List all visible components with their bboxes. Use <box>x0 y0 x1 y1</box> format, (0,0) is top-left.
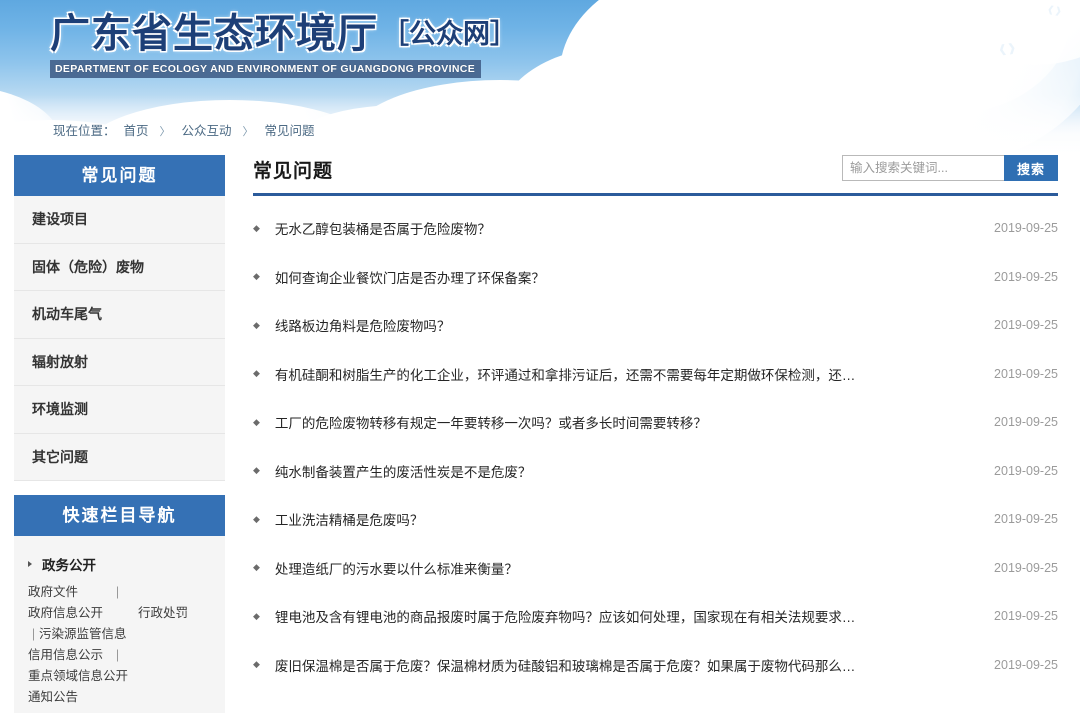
diamond-bullet-icon: ◆ <box>253 418 260 427</box>
breadcrumb-item-public-interaction[interactable]: 公众互动 <box>182 124 232 138</box>
quick-nav-panel-title: 快速栏目导航 <box>14 495 225 536</box>
breadcrumb-item-faq[interactable]: 常见问题 <box>265 124 315 138</box>
sidebar-panel-title: 常见问题 <box>14 155 225 196</box>
faq-list-item[interactable]: ◆ 有机硅酮和树脂生产的化工企业，环评通过和拿排污证后，还需不需要每年定期做环保… <box>253 350 1058 399</box>
faq-item-date: 2019-09-25 <box>974 609 1058 623</box>
faq-item-main: ◆ 锂电池及含有锂电池的商品报废时属于危险废弃物吗？应该如何处理，国家现在有相关… <box>253 606 855 626</box>
title-divider <box>253 193 1058 196</box>
faq-item-main: ◆ 如何查询企业餐饮门店是否办理了环保备案？ <box>253 267 545 287</box>
faq-item-date: 2019-09-25 <box>974 464 1058 478</box>
cloud-decoration <box>0 85 60 155</box>
cloud-decoration <box>560 0 890 155</box>
faq-item-title[interactable]: 如何查询企业餐饮门店是否办理了环保备案？ <box>275 267 545 287</box>
faq-list: ◆ 无水乙醇包装桶是否属于危险废物？ 2019-09-25 ◆ 如何查询企业餐饮… <box>253 200 1058 689</box>
quick-link-notices-announcements[interactable]: 通知公告 <box>28 687 225 708</box>
faq-item-title[interactable]: 处理造纸厂的污水要以什么标准来衡量？ <box>275 558 518 578</box>
breadcrumb-label: 现在位置： <box>53 124 116 138</box>
search-input[interactable] <box>842 155 1004 181</box>
site-banner: ❰❱ ❰❱ 广东省生态环境厅［公众网］ DEPARTMENT OF ECOLOG… <box>0 0 1080 155</box>
sidebar-item-solid-hazardous-waste[interactable]: 固体（危险）废物 <box>14 244 225 292</box>
breadcrumb-separator-icon: 〉 <box>243 126 254 138</box>
quick-link-administrative-penalty[interactable]: 行政处罚 <box>138 603 222 624</box>
faq-list-item[interactable]: ◆ 锂电池及含有锂电池的商品报废时属于危险废弃物吗？应该如何处理，国家现在有相关… <box>253 592 1058 641</box>
quick-link-pollution-source-supervision[interactable]: 污染源监管信息 <box>39 624 149 645</box>
breadcrumb-item-home[interactable]: 首页 <box>124 124 149 138</box>
quick-nav-links-disclosure: 政府文件 | 政府信息公开 行政处罚 | 污染源监管信息 信用信息公示 | 重点… <box>14 582 225 708</box>
quick-link-key-areas-information-disclosure[interactable]: 重点领域信息公开 <box>28 666 138 687</box>
faq-item-title[interactable]: 工业洗洁精桶是危废吗？ <box>275 509 424 529</box>
diamond-bullet-icon: ◆ <box>253 466 260 475</box>
site-logo-title: 广东省生态环境厅［公众网］ <box>50 12 517 56</box>
quick-link-credit-information-publicity[interactable]: 信用信息公示 <box>28 645 112 666</box>
faq-item-title[interactable]: 纯水制备装置产生的废活性炭是不是危废？ <box>275 461 532 481</box>
site-logo[interactable]: 广东省生态环境厅［公众网］ DEPARTMENT OF ECOLOGY AND … <box>50 12 517 78</box>
sidebar-item-radiation[interactable]: 辐射放射 <box>14 339 225 387</box>
faq-list-item[interactable]: ◆ 工厂的危险废物转移有规定一年要转移一次吗？或者多长时间需要转移？ 2019-… <box>253 398 1058 447</box>
faq-list-item[interactable]: ◆ 工业洗洁精桶是危废吗？ 2019-09-25 <box>253 495 1058 544</box>
diamond-bullet-icon: ◆ <box>253 612 260 621</box>
sidebar-item-environmental-monitoring[interactable]: 环境监测 <box>14 386 225 434</box>
faq-item-main: ◆ 纯水制备装置产生的废活性炭是不是危废？ <box>253 461 531 481</box>
quick-nav-group-government-affairs-disclosure[interactable]: 政务公开 <box>14 546 225 582</box>
diamond-bullet-icon: ◆ <box>253 321 260 330</box>
sidebar: 常见问题 建设项目 固体（危险）废物 机动车尾气 辐射放射 环境监测 其它问题 … <box>14 155 225 713</box>
link-divider: | <box>28 624 39 645</box>
quick-nav-panel: 快速栏目导航 政务公开 政府文件 | 政府信息公开 行政处罚 | 污染源监管信息… <box>14 495 225 713</box>
bird-icon: ❰❱ <box>997 43 1017 56</box>
cloud-decoration <box>690 0 1080 155</box>
faq-list-item[interactable]: ◆ 废旧保温棉是否属于危废？保温棉材质为硅酸铝和玻璃棉是否属于危废？如果属于废物… <box>253 641 1058 690</box>
faq-item-date: 2019-09-25 <box>974 367 1058 381</box>
faq-list-item[interactable]: ◆ 线路板边角料是危险废物吗？ 2019-09-25 <box>253 301 1058 350</box>
cloud-decoration <box>350 80 650 155</box>
faq-item-title[interactable]: 锂电池及含有锂电池的商品报废时属于危险废弃物吗？应该如何处理，国家现在有相关法规… <box>275 606 856 626</box>
faq-list-item[interactable]: ◆ 纯水制备装置产生的废活性炭是不是危废？ 2019-09-25 <box>253 447 1058 496</box>
sidebar-nav: 建设项目 固体（危险）废物 机动车尾气 辐射放射 环境监测 其它问题 <box>14 196 225 481</box>
link-divider: | <box>112 582 123 603</box>
faq-item-date: 2019-09-25 <box>974 658 1058 672</box>
cloud-decoration <box>760 0 960 95</box>
sidebar-item-other-questions[interactable]: 其它问题 <box>14 434 225 482</box>
breadcrumb: 现在位置：首页〉公众互动〉常见问题 <box>53 120 315 139</box>
site-logo-title-text: 广东省生态环境厅 <box>50 11 378 57</box>
faq-item-date: 2019-09-25 <box>974 561 1058 575</box>
diamond-bullet-icon: ◆ <box>253 563 260 572</box>
site-logo-subtitle-bracket: ［公众网］ <box>382 19 517 50</box>
search-button[interactable]: 搜索 <box>1004 155 1058 181</box>
faq-item-title[interactable]: 有机硅酮和树脂生产的化工企业，环评通过和拿排污证后，还需不需要每年定期做环保检测… <box>275 364 856 384</box>
faq-item-main: ◆ 有机硅酮和树脂生产的化工企业，环评通过和拿排污证后，还需不需要每年定期做环保… <box>253 364 855 384</box>
faq-item-title[interactable]: 废旧保温棉是否属于危废？保温棉材质为硅酸铝和玻璃棉是否属于危废？如果属于废物代码… <box>275 655 856 675</box>
cloud-decoration <box>500 45 750 155</box>
faq-item-date: 2019-09-25 <box>974 221 1058 235</box>
faq-item-main: ◆ 处理造纸厂的污水要以什么标准来衡量？ <box>253 558 518 578</box>
faq-item-title[interactable]: 线路板边角料是危险废物吗？ <box>275 315 451 335</box>
chevron-right-icon <box>28 561 32 567</box>
diamond-bullet-icon: ◆ <box>253 660 260 669</box>
faq-list-item[interactable]: ◆ 无水乙醇包装桶是否属于危险废物？ 2019-09-25 <box>253 204 1058 253</box>
diamond-bullet-icon: ◆ <box>253 369 260 378</box>
quick-link-government-documents[interactable]: 政府文件 <box>28 582 112 603</box>
search-bar: 搜索 <box>842 155 1058 181</box>
bird-icon: ❰❱ <box>1046 5 1062 16</box>
content-header: 常见问题 搜索 <box>253 155 1058 193</box>
faq-item-main: ◆ 线路板边角料是危险废物吗？ <box>253 315 450 335</box>
faq-item-title[interactable]: 无水乙醇包装桶是否属于危险废物？ <box>275 218 491 238</box>
faq-item-title[interactable]: 工厂的危险废物转移有规定一年要转移一次吗？或者多长时间需要转移？ <box>275 412 707 432</box>
quick-nav-group-label: 政务公开 <box>42 554 96 574</box>
faq-item-date: 2019-09-25 <box>974 270 1058 284</box>
page-body: 常见问题 建设项目 固体（危险）废物 机动车尾气 辐射放射 环境监测 其它问题 … <box>0 155 1080 713</box>
faq-item-main: ◆ 废旧保温棉是否属于危废？保温棉材质为硅酸铝和玻璃棉是否属于危废？如果属于废物… <box>253 655 855 675</box>
faq-item-main: ◆ 无水乙醇包装桶是否属于危险废物？ <box>253 218 491 238</box>
diamond-bullet-icon: ◆ <box>253 515 260 524</box>
cloud-decoration <box>280 105 520 155</box>
faq-item-main: ◆ 工业洗洁精桶是危废吗？ <box>253 509 423 529</box>
cloud-decoration <box>820 0 1070 115</box>
main-content: 常见问题 搜索 ◆ 无水乙醇包装桶是否属于危险废物？ 2019-09-25 ◆ … <box>225 155 1080 689</box>
sidebar-item-construction-projects[interactable]: 建设项目 <box>14 196 225 244</box>
faq-item-main: ◆ 工厂的危险废物转移有规定一年要转移一次吗？或者多长时间需要转移？ <box>253 412 707 432</box>
faq-item-date: 2019-09-25 <box>974 318 1058 332</box>
breadcrumb-separator-icon: 〉 <box>160 126 171 138</box>
page-title: 常见问题 <box>253 156 333 183</box>
diamond-bullet-icon: ◆ <box>253 272 260 281</box>
quick-nav-group-government-services[interactable]: 政务服务 <box>14 708 225 713</box>
diamond-bullet-icon: ◆ <box>253 224 260 233</box>
faq-item-date: 2019-09-25 <box>974 415 1058 429</box>
site-logo-english: DEPARTMENT OF ECOLOGY AND ENVIRONMENT OF… <box>50 60 481 78</box>
faq-item-date: 2019-09-25 <box>974 512 1058 526</box>
quick-link-government-information-disclosure[interactable]: 政府信息公开 <box>28 603 138 624</box>
faq-list-item[interactable]: ◆ 如何查询企业餐饮门店是否办理了环保备案？ 2019-09-25 <box>253 253 1058 302</box>
quick-nav-body: 政务公开 政府文件 | 政府信息公开 行政处罚 | 污染源监管信息 信用信息公示… <box>14 536 225 713</box>
faq-list-item[interactable]: ◆ 处理造纸厂的污水要以什么标准来衡量？ 2019-09-25 <box>253 544 1058 593</box>
sidebar-item-vehicle-exhaust[interactable]: 机动车尾气 <box>14 291 225 339</box>
link-divider: | <box>112 645 123 666</box>
